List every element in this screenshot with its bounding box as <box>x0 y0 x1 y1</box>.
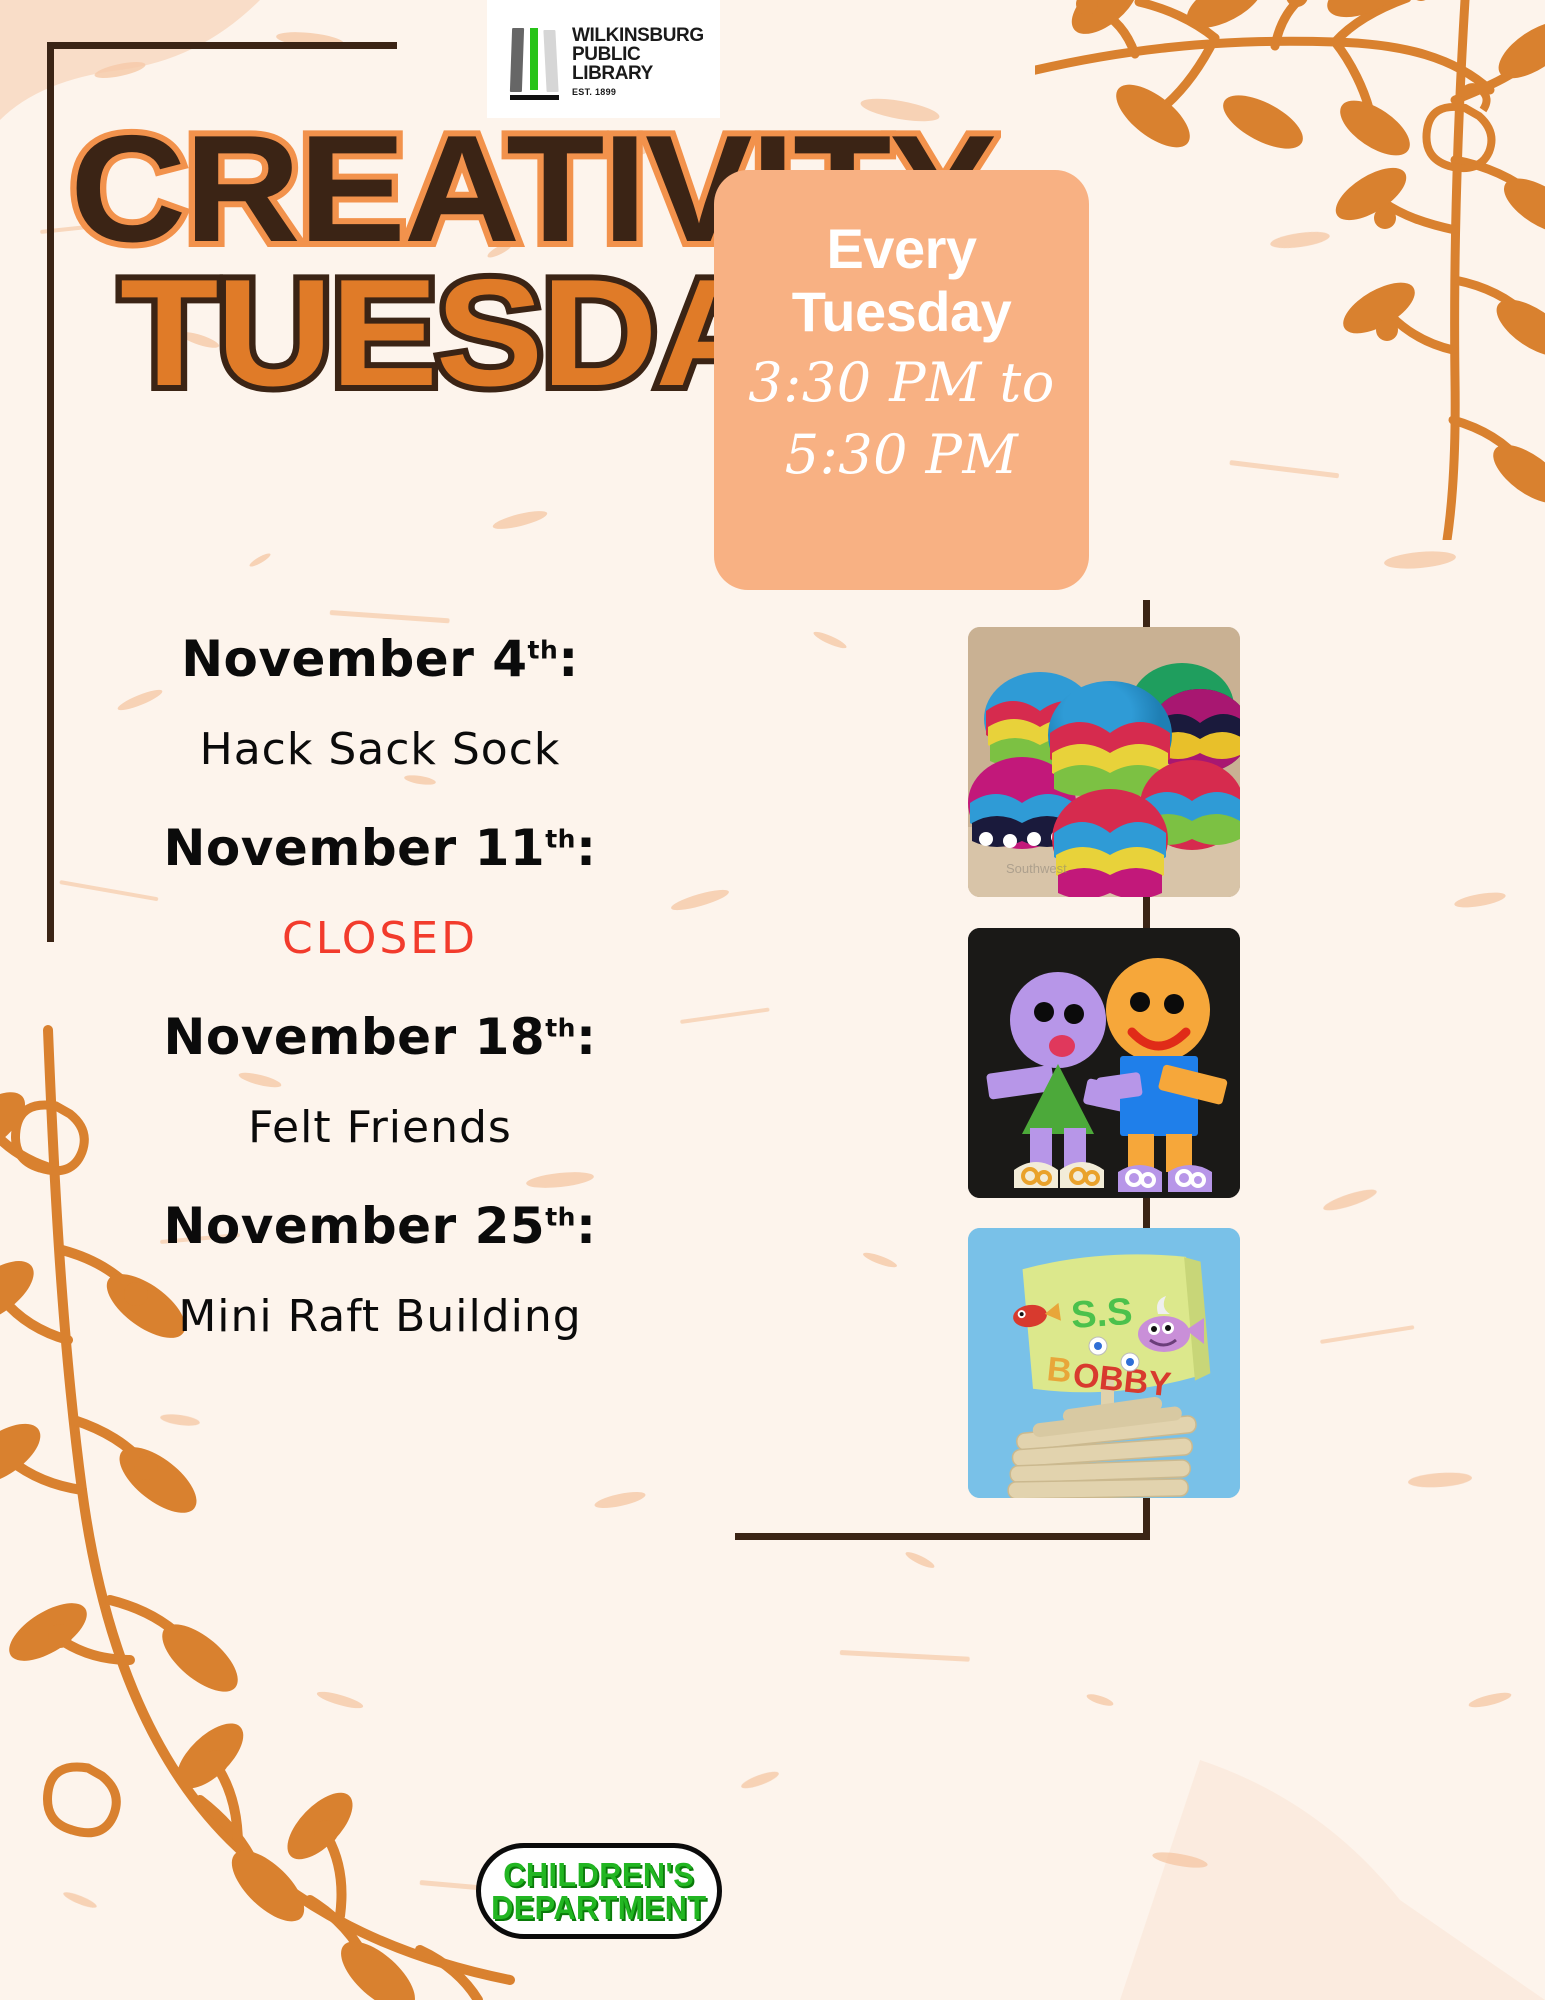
headline-line-creativity: CREATIVITY <box>70 120 820 260</box>
schedule-date-text: November 25 <box>164 1197 546 1255</box>
poster-canvas: WILKINSBURG PUBLIC LIBRARY EST. 1899 CRE… <box>0 0 1545 2000</box>
logo-line-1: WILKINSBURG <box>572 26 704 45</box>
schedule-date-ordinal: th <box>545 1013 576 1042</box>
schedule-date: November 11th: <box>70 819 690 877</box>
schedule-date-ordinal: th <box>545 824 576 853</box>
svg-text:Southwest: Southwest <box>1006 861 1067 876</box>
headline-line-tuesdays: TUESDAYS <box>120 264 817 404</box>
schedule-date-text: November 4 <box>181 630 527 688</box>
schedule-date-ordinal: th <box>528 635 559 664</box>
mini-raft-photo: S.S B OBBY <box>968 1228 1240 1498</box>
schedule-list: November 4th: Hack Sack Sock November 11… <box>70 630 690 1386</box>
schedule-activity: Hack Sack Sock <box>70 724 690 775</box>
schedule-date: November 25th: <box>70 1197 690 1255</box>
time-card-tuesday: Tuesday <box>792 281 1012 344</box>
time-card-every: Every <box>826 218 976 281</box>
raft-sail-ss-text: S.S <box>1070 1291 1134 1337</box>
library-logo-text: WILKINSBURG PUBLIC LIBRARY EST. 1899 <box>572 26 704 97</box>
schedule-date-colon: : <box>558 630 579 688</box>
frame-line-bottom-right-horizontal <box>735 1533 1150 1540</box>
hacky-sack-balls-photo: Southwest <box>968 627 1240 897</box>
time-card-time-end: 5:30 PM <box>785 423 1019 487</box>
badge-line-2: DEPARTMENT <box>491 1891 706 1924</box>
schedule-date: November 4th: <box>70 630 690 688</box>
schedule-date: November 18th: <box>70 1008 690 1066</box>
badge-line-1: CHILDREN'S <box>504 1858 695 1891</box>
page-title: CREATIVITY TUESDAYS <box>58 120 778 404</box>
library-logo: WILKINSBURG PUBLIC LIBRARY EST. 1899 <box>487 0 720 118</box>
frame-line-top-left-horizontal <box>47 42 397 49</box>
library-books-icon <box>509 22 561 100</box>
schedule-activity: Felt Friends <box>70 1102 690 1153</box>
felt-friends-photo <box>968 928 1240 1198</box>
childrens-department-badge: CHILDREN'S DEPARTMENT <box>476 1843 722 1939</box>
logo-line-2: PUBLIC <box>572 45 704 64</box>
schedule-date-colon: : <box>576 1008 597 1066</box>
frame-line-top-left-vertical <box>47 42 54 942</box>
svg-text:B: B <box>1045 1350 1073 1390</box>
logo-line-3: LIBRARY <box>572 64 704 83</box>
schedule-date-colon: : <box>576 1197 597 1255</box>
schedule-date-text: November 18 <box>164 1008 546 1066</box>
time-card-time-start: 3:30 PM to <box>748 351 1054 415</box>
schedule-time-card: Every Tuesday 3:30 PM to 5:30 PM <box>714 170 1089 590</box>
logo-established: EST. 1899 <box>572 88 704 97</box>
schedule-date-text: November 11 <box>164 819 546 877</box>
schedule-activity-closed: CLOSED <box>70 913 690 964</box>
schedule-date-colon: : <box>576 819 597 877</box>
schedule-date-ordinal: th <box>545 1202 576 1231</box>
botanical-branch-top-right-icon <box>1035 0 1545 540</box>
schedule-activity: Mini Raft Building <box>70 1291 690 1342</box>
